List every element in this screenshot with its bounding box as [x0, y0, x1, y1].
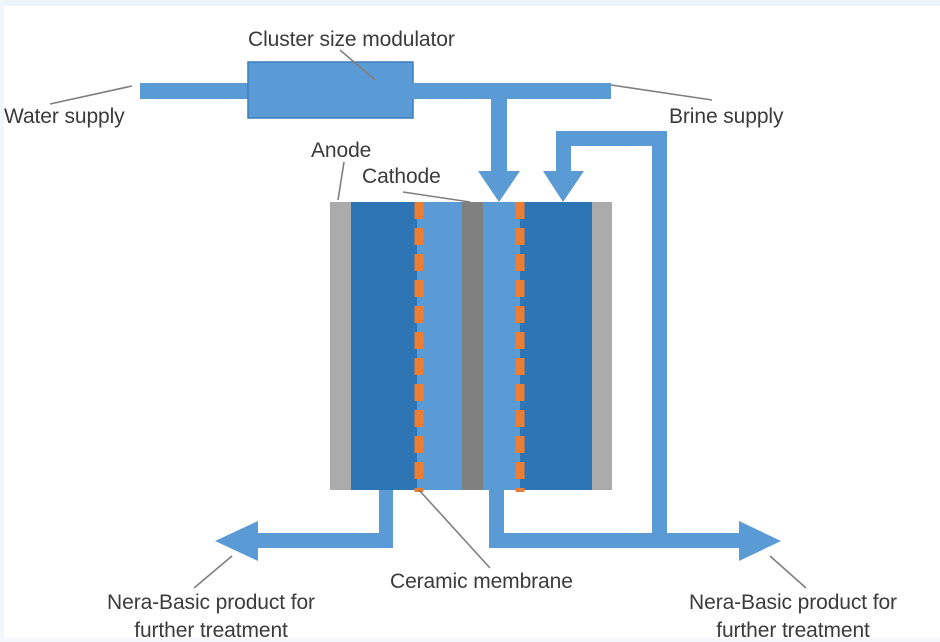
- label-anode: Anode: [311, 138, 371, 163]
- water-supply-pipe: [140, 83, 252, 99]
- diagram-canvas: Cluster size modulator Water supply Brin…: [0, 0, 940, 642]
- leader-line-brine-supply: [611, 85, 712, 100]
- cell-layer-anode-left: [351, 202, 417, 490]
- label-product-left-line1: Nera-Basic product for: [82, 590, 340, 615]
- label-product-right-line2: further treatment: [664, 618, 922, 642]
- left-inlet-drop-pipe: [491, 95, 507, 177]
- leader-line-ceramic-membrane: [419, 490, 490, 568]
- right-outlet-horizontal-pipe: [489, 533, 739, 548]
- left-outlet-arrowhead: [215, 521, 258, 561]
- brine-loop-drop-pipe: [556, 131, 571, 177]
- label-water-supply: Water supply: [4, 104, 125, 129]
- label-cluster-size-modulator: Cluster size modulator: [248, 27, 455, 52]
- label-ceramic-membrane: Ceramic membrane: [390, 569, 573, 594]
- leader-line-product-right: [770, 556, 806, 588]
- label-cathode: Cathode: [362, 164, 441, 189]
- leader-line-cathode: [403, 192, 470, 202]
- cell-layer-electrolyte-left: [417, 202, 462, 490]
- label-brine-supply: Brine supply: [669, 104, 783, 129]
- left-inlet-arrowhead: [478, 171, 520, 202]
- brine-supply-riser: [652, 131, 667, 546]
- leader-line-water-supply: [50, 86, 132, 104]
- leader-line-anode: [338, 162, 344, 200]
- cell-layer-electrolyte-right: [483, 202, 520, 490]
- leader-line-product-left: [194, 556, 232, 588]
- right-inlet-arrowhead: [543, 171, 584, 202]
- left-outlet-horizontal-pipe: [258, 533, 393, 548]
- cell-layer-outer-casing-left: [330, 202, 351, 490]
- label-product-left-line2: further treatment: [82, 618, 340, 642]
- top-header-pipe: [409, 83, 611, 99]
- label-product-right-line1: Nera-Basic product for: [664, 590, 922, 615]
- cell-layer-cathode-right: [520, 202, 592, 490]
- cluster-size-modulator-box: [248, 62, 413, 118]
- cell-layer-outer-casing-right: [592, 202, 612, 490]
- cell-layer-center-separator: [462, 202, 483, 490]
- brine-loop-top-pipe: [556, 131, 667, 146]
- process-flow-diagram: [0, 0, 940, 642]
- electrochemical-cell-stack: [330, 202, 612, 492]
- right-outlet-arrowhead: [739, 521, 781, 561]
